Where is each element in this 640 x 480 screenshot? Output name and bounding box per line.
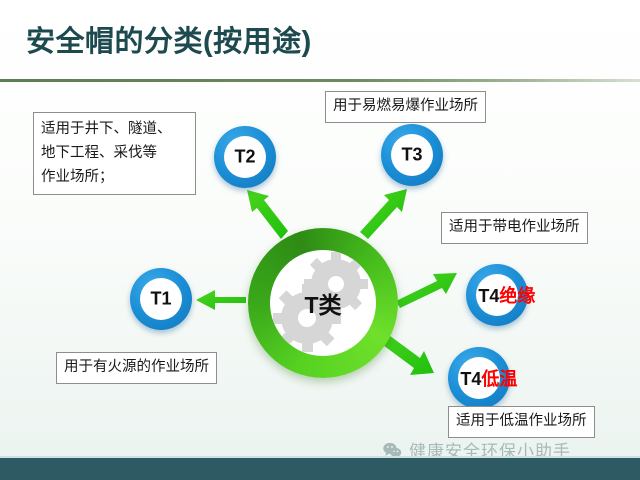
node-t1-label-plain: T1 (150, 289, 171, 309)
node-t1-label: T1 (150, 289, 171, 310)
note-t3: 用于易燃易爆作业场所 (325, 91, 486, 123)
node-t4-lowtemp[interactable]: T4低温 (448, 347, 510, 409)
note-t4-insulation: 适用于带电作业场所 (441, 212, 588, 244)
node-t4-lowtemp-label: T4低温 (460, 365, 517, 391)
node-t4-insulation-label-hot: 绝缘 (499, 286, 535, 306)
node-t2-label-plain: T2 (234, 147, 255, 167)
node-t3[interactable]: T3 (381, 124, 443, 186)
note-t4-lowtemp: 适用于低温作业场所 (448, 406, 595, 438)
node-t4-lowtemp-label-plain: T4 (460, 369, 481, 389)
slide-canvas: 安全帽的分类(按用途) (0, 0, 640, 480)
arrow-to-t1 (196, 290, 246, 310)
page-title: 安全帽的分类(按用途) (26, 18, 312, 60)
node-t4-insulation[interactable]: T4绝缘 (466, 264, 528, 326)
node-t3-label: T3 (401, 145, 422, 166)
node-t4-insulation-label: T4绝缘 (478, 282, 535, 308)
bottom-bar (0, 458, 640, 480)
center-hub: T类 (248, 228, 398, 378)
node-t4-insulation-label-plain: T4 (478, 286, 499, 306)
title-divider (0, 79, 640, 82)
node-t4-lowtemp-label-hot: 低温 (481, 369, 517, 389)
arrow-to-t4-insulation (396, 273, 457, 308)
node-t3-label-plain: T3 (401, 145, 422, 165)
node-t1[interactable]: T1 (130, 268, 192, 330)
node-t2-label: T2 (234, 147, 255, 168)
node-t2[interactable]: T2 (214, 126, 276, 188)
hub-label: T类 (248, 286, 398, 320)
note-t1: 用于有火源的作业场所 (56, 352, 217, 384)
note-t2: 适用于井下、隧道、 地下工程、采伐等 作业场所； (33, 112, 196, 195)
